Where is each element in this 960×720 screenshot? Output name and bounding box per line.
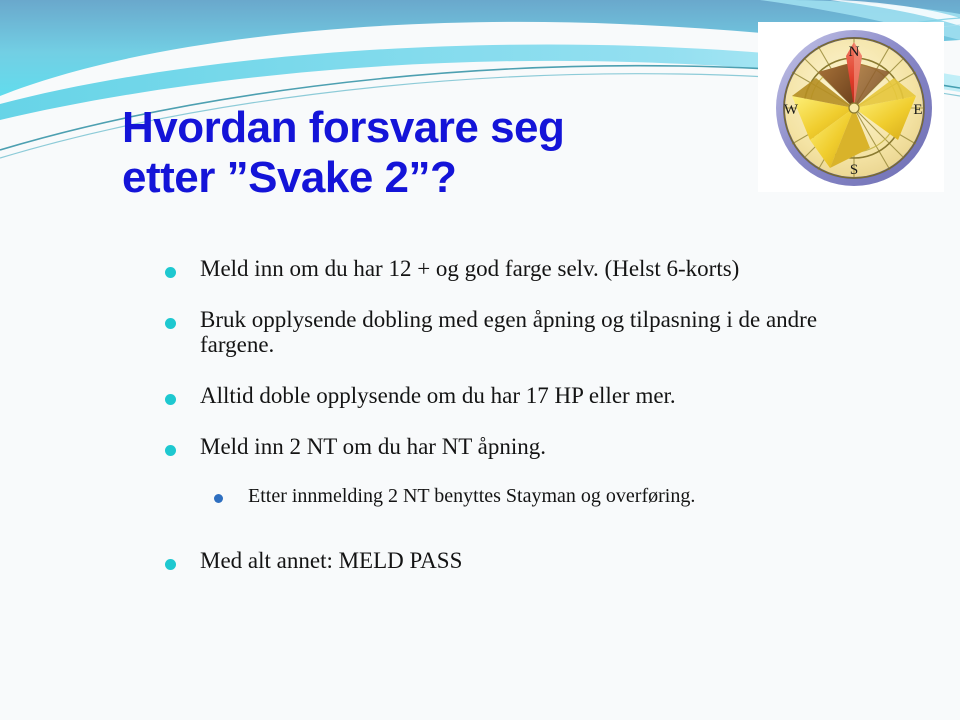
bullet-text: Meld inn 2 NT om du har NT åpning. bbox=[200, 434, 890, 459]
bullet-marker-icon bbox=[165, 445, 176, 456]
slide-body-bullet-list: Meld inn om du har 12 + og god farge sel… bbox=[160, 256, 890, 599]
compass-label-north: N bbox=[849, 44, 860, 60]
bullet-item-sub: Etter innmelding 2 NT benyttes Stayman o… bbox=[160, 485, 890, 508]
bullet-marker-icon bbox=[165, 318, 176, 329]
bullet-item: Med alt annet: MELD PASS bbox=[160, 548, 890, 573]
compass-label-east: E bbox=[913, 102, 922, 118]
slide-title: Hvordan forsvare seg etter ”Svake 2”? bbox=[122, 103, 742, 203]
bullet-text: Med alt annet: MELD PASS bbox=[200, 548, 890, 573]
bullet-text: Etter innmelding 2 NT benyttes Stayman o… bbox=[248, 485, 890, 508]
compass-rose-image: N E S W bbox=[758, 22, 944, 192]
bullet-marker-icon bbox=[165, 394, 176, 405]
compass-label-south: S bbox=[850, 162, 858, 178]
bullet-marker-icon bbox=[165, 559, 176, 570]
bullet-item: Alltid doble opplysende om du har 17 HP … bbox=[160, 383, 890, 408]
bullet-text: Alltid doble opplysende om du har 17 HP … bbox=[200, 383, 890, 408]
presentation-slide: N E S W Hvordan forsvare seg etter ”Svak… bbox=[0, 0, 960, 720]
bullet-marker-icon bbox=[165, 267, 176, 278]
compass-label-west: W bbox=[784, 102, 799, 118]
bullet-text: Meld inn om du har 12 + og god farge sel… bbox=[200, 256, 890, 281]
bullet-item: Meld inn 2 NT om du har NT åpning. bbox=[160, 434, 890, 459]
slide-title-line-2: etter ”Svake 2”? bbox=[122, 153, 742, 203]
bullet-marker-icon bbox=[214, 494, 223, 503]
bullet-item: Bruk opplysende dobling med egen åpning … bbox=[160, 307, 890, 357]
bullet-item: Meld inn om du har 12 + og god farge sel… bbox=[160, 256, 890, 281]
slide-title-line-1: Hvordan forsvare seg bbox=[122, 103, 742, 153]
bullet-text: Bruk opplysende dobling med egen åpning … bbox=[200, 307, 890, 357]
